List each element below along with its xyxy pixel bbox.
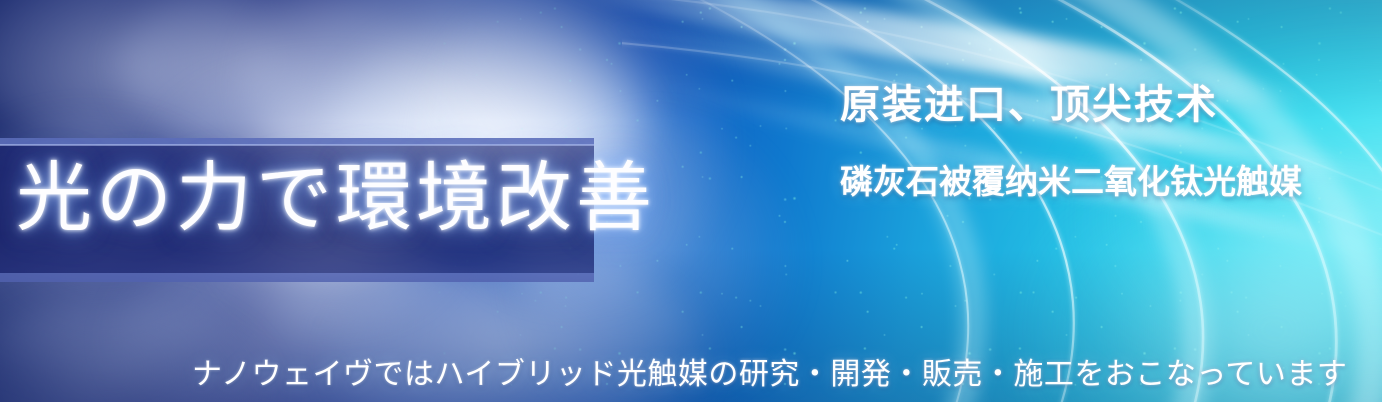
hero-banner: 光の力で環境改善 原装进口、顶尖技术 磷灰石被覆纳米二氧化钛光触媒 ナノウェイヴ… — [0, 0, 1382, 402]
promo-heading-secondary: 磷灰石被覆纳米二氧化钛光触媒 — [840, 155, 1302, 203]
page-title-headline: 光の力で環境改善 — [16, 160, 616, 236]
company-tagline: ナノウェイヴではハイブリッド光触媒の研究・開発・販売・施工をおこなっています — [192, 349, 1347, 393]
promo-heading-primary: 原装进口、顶尖技术 — [840, 72, 1218, 130]
